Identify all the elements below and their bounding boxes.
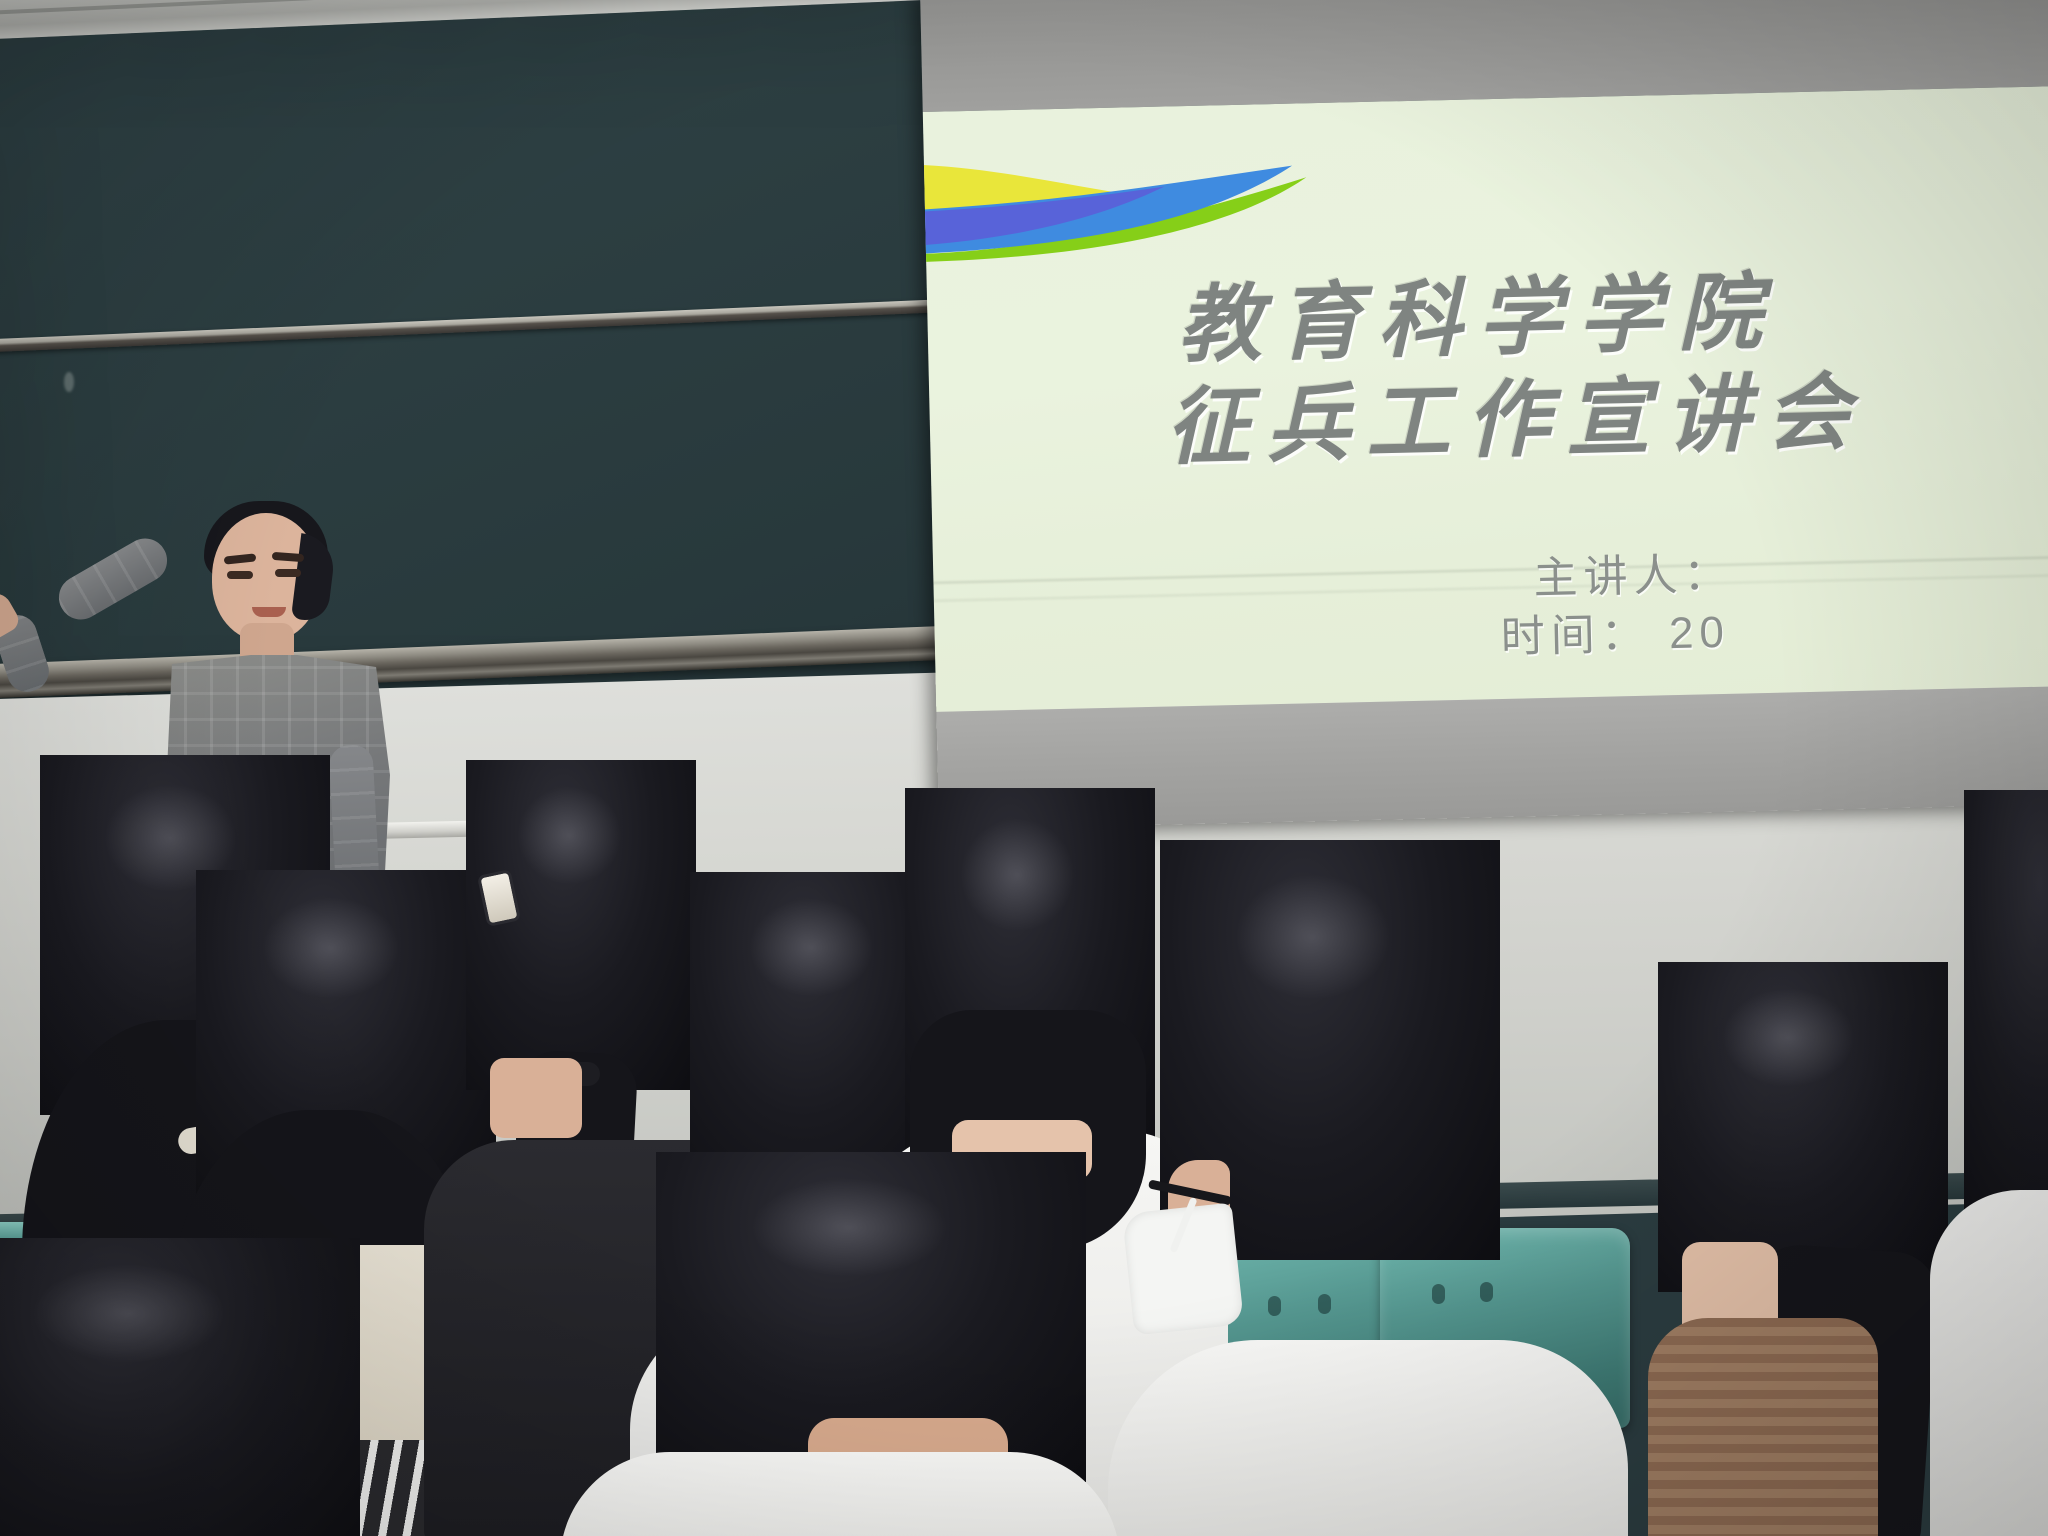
slide-title: 教育科学学院 征兵工作宣讲会 xyxy=(1177,251,2048,481)
audience-head xyxy=(0,1238,360,1536)
audience-clothing xyxy=(1648,1318,1878,1536)
presenter-mouth xyxy=(252,607,286,617)
lecture-hall-scene: 教育科学学院 征兵工作宣讲会 主讲人： 时间： 20 xyxy=(0,0,2048,1536)
audience-head xyxy=(1964,790,2048,1210)
slide-speaker-label: 主讲人： xyxy=(1533,534,2048,608)
presenter-eye xyxy=(227,571,253,579)
audience-clothing xyxy=(560,1452,1120,1536)
projector-screen: 教育科学学院 征兵工作宣讲会 主讲人： 时间： 20 xyxy=(920,0,2048,830)
neck xyxy=(490,1058,582,1138)
audience-head xyxy=(466,760,696,1090)
audience-clothing xyxy=(1930,1190,2048,1536)
slide-content: 教育科学学院 征兵工作宣讲会 主讲人： 时间： 20 xyxy=(923,85,2048,712)
audience-clothing xyxy=(1108,1340,1628,1536)
swoosh-logo-icon xyxy=(923,149,1328,269)
presenter-eye xyxy=(275,569,301,577)
slide-title-line1: 教育科学学院 xyxy=(1177,251,2048,378)
chalk-smudge xyxy=(64,372,74,392)
slide-meta: 主讲人： 时间： 20 xyxy=(1533,534,2048,666)
